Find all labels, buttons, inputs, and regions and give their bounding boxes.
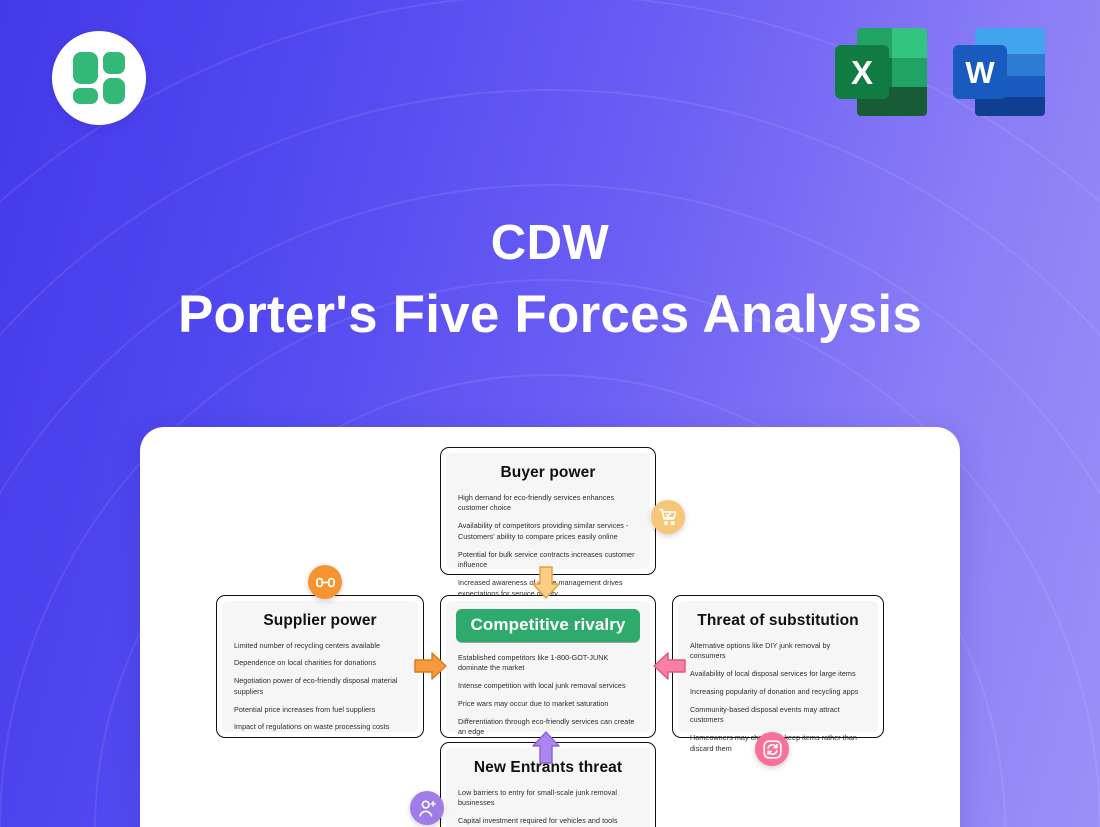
arrow-up-entrants-icon bbox=[531, 730, 561, 764]
force-title-competitive-rivalry: Competitive rivalry bbox=[456, 609, 640, 642]
list-item: Intense competition with local junk remo… bbox=[456, 678, 640, 696]
list-item: Availability of local disposal services … bbox=[688, 666, 868, 684]
force-title-supplier-power: Supplier power bbox=[232, 609, 408, 637]
list-item: Impact of regulations on waste processin… bbox=[232, 719, 408, 737]
porters-five-forces-diagram: Buyer power High demand for eco-friendly… bbox=[140, 427, 960, 827]
list-item: High demand for eco-friendly services en… bbox=[456, 489, 640, 518]
office-app-icons: X W bbox=[835, 28, 1045, 116]
list-item: Capital investment required for vehicles… bbox=[456, 813, 640, 827]
list-item: Alternative options like DIY junk remova… bbox=[688, 637, 868, 666]
title-block: CDW Porter's Five Forces Analysis bbox=[0, 218, 1100, 343]
list-item: Dependence on local charities for donati… bbox=[232, 655, 408, 673]
force-points-new-entrants-threat: Low barriers to entry for small-scale ju… bbox=[456, 784, 640, 827]
excel-icon[interactable]: X bbox=[835, 28, 927, 116]
company-name: CDW bbox=[0, 218, 1100, 269]
force-title-buyer-power: Buyer power bbox=[456, 461, 640, 489]
list-item: Availability of competitors providing si… bbox=[456, 518, 640, 547]
list-item: Increasing popularity of donation and re… bbox=[688, 683, 868, 701]
excel-icon-letter: X bbox=[835, 45, 889, 99]
force-box-buyer-power[interactable]: Buyer power High demand for eco-friendly… bbox=[440, 447, 656, 575]
word-icon[interactable]: W bbox=[953, 28, 1045, 116]
grid-logo-icon bbox=[73, 52, 125, 104]
list-item: Limited number of recycling centers avai… bbox=[232, 637, 408, 655]
force-points-supplier-power: Limited number of recycling centers avai… bbox=[232, 637, 408, 737]
page-title: Porter's Five Forces Analysis bbox=[0, 287, 1100, 343]
force-box-threat-of-substitution[interactable]: Threat of substitution Alternative optio… bbox=[672, 595, 884, 738]
arrow-left-substitution-icon bbox=[652, 651, 686, 681]
list-item: Potential price increases from fuel supp… bbox=[232, 701, 408, 719]
badge-threat-of-substitution[interactable] bbox=[755, 732, 789, 766]
list-item: Negotiation power of eco-friendly dispos… bbox=[232, 673, 408, 702]
arrow-down-buyer-icon bbox=[531, 566, 561, 600]
force-title-threat-of-substitution: Threat of substitution bbox=[688, 609, 868, 637]
word-icon-letter: W bbox=[953, 45, 1007, 99]
slide-canvas: X W CDW Porter's Five Forces Analysis Bu… bbox=[0, 0, 1100, 827]
refresh-sync-icon bbox=[762, 739, 783, 760]
force-box-supplier-power[interactable]: Supplier power Limited number of recycli… bbox=[216, 595, 424, 738]
list-item: Low barriers to entry for small-scale ju… bbox=[456, 784, 640, 813]
badge-supplier-power[interactable] bbox=[308, 565, 342, 599]
list-item: Price wars may occur due to market satur… bbox=[456, 695, 640, 713]
add-user-icon bbox=[417, 798, 438, 819]
shopping-cart-icon bbox=[658, 507, 678, 527]
arrow-right-supplier-icon bbox=[414, 651, 448, 681]
list-item: Community-based disposal events may attr… bbox=[688, 701, 868, 730]
badge-new-entrants-threat[interactable] bbox=[410, 791, 444, 825]
badge-buyer-power[interactable] bbox=[651, 500, 685, 534]
list-item: Established competitors like 1-800-GOT-J… bbox=[456, 649, 640, 678]
force-box-competitive-rivalry[interactable]: Competitive rivalry Established competit… bbox=[440, 595, 656, 738]
link-chain-icon bbox=[315, 572, 336, 593]
diagram-card: Buyer power High demand for eco-friendly… bbox=[140, 427, 960, 827]
brand-logo bbox=[52, 31, 146, 125]
